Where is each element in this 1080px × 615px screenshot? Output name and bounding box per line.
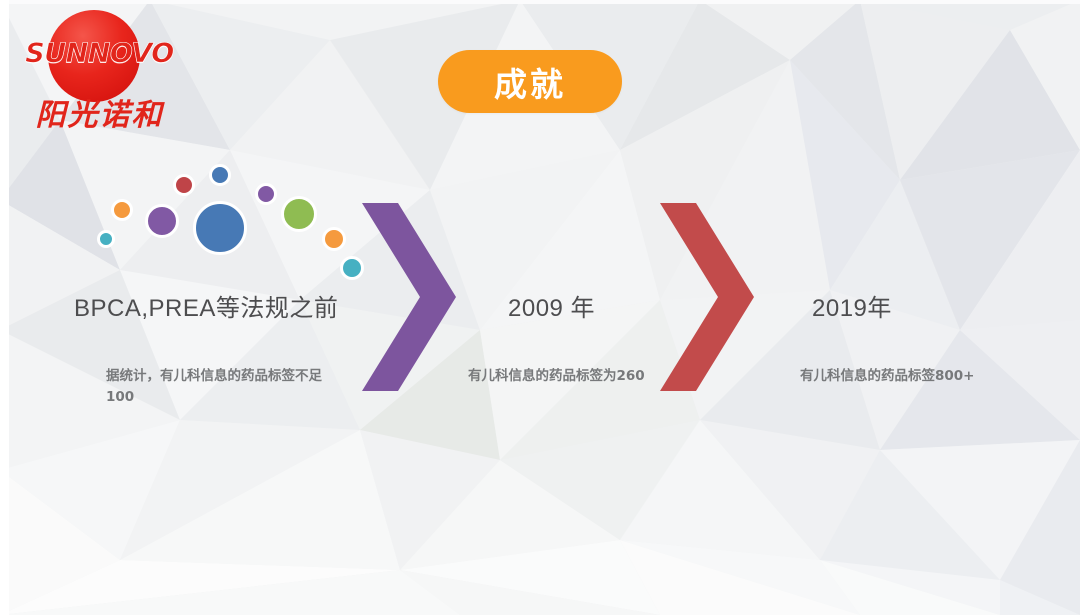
sunnovo-logo: SUNNOVO 阳光诺和: [12, 4, 187, 144]
slide-title-text: 成就: [494, 58, 566, 106]
dot-purple-small: [255, 183, 277, 205]
dot-orange-left: [111, 199, 133, 221]
logo-wordmark: SUNNOVO: [12, 38, 187, 69]
slide-canvas: SUNNOVO 阳光诺和 成就 BPCA,PREA等法规之前 据统计，有儿科信息…: [0, 0, 1080, 615]
stage-description-2: 有儿科信息的药品标签800+: [800, 366, 1020, 387]
dot-blue-large: [193, 201, 247, 255]
slide-edge-top: [0, 0, 1080, 4]
stage-title-0: BPCA,PREA等法规之前: [74, 288, 338, 323]
stage-description-0: 据统计，有儿科信息的药品标签不足100: [106, 366, 336, 408]
slide-edge-left: [0, 0, 9, 615]
dot-green: [281, 196, 317, 232]
logo-chinese-name: 阳光诺和: [12, 90, 187, 134]
dot-teal-small: [97, 230, 115, 248]
dot-blue-small: [209, 164, 231, 186]
dot-red: [173, 174, 195, 196]
stage-description-1: 有儿科信息的药品标签为260: [468, 366, 688, 387]
stage-title-2: 2019年: [812, 288, 892, 323]
stage-title-1: 2009 年: [508, 288, 595, 323]
dot-orange-right: [322, 227, 346, 251]
dot-purple-mid: [145, 204, 179, 238]
slide-title-pill: 成就: [438, 50, 622, 113]
dot-teal-right: [340, 256, 364, 280]
